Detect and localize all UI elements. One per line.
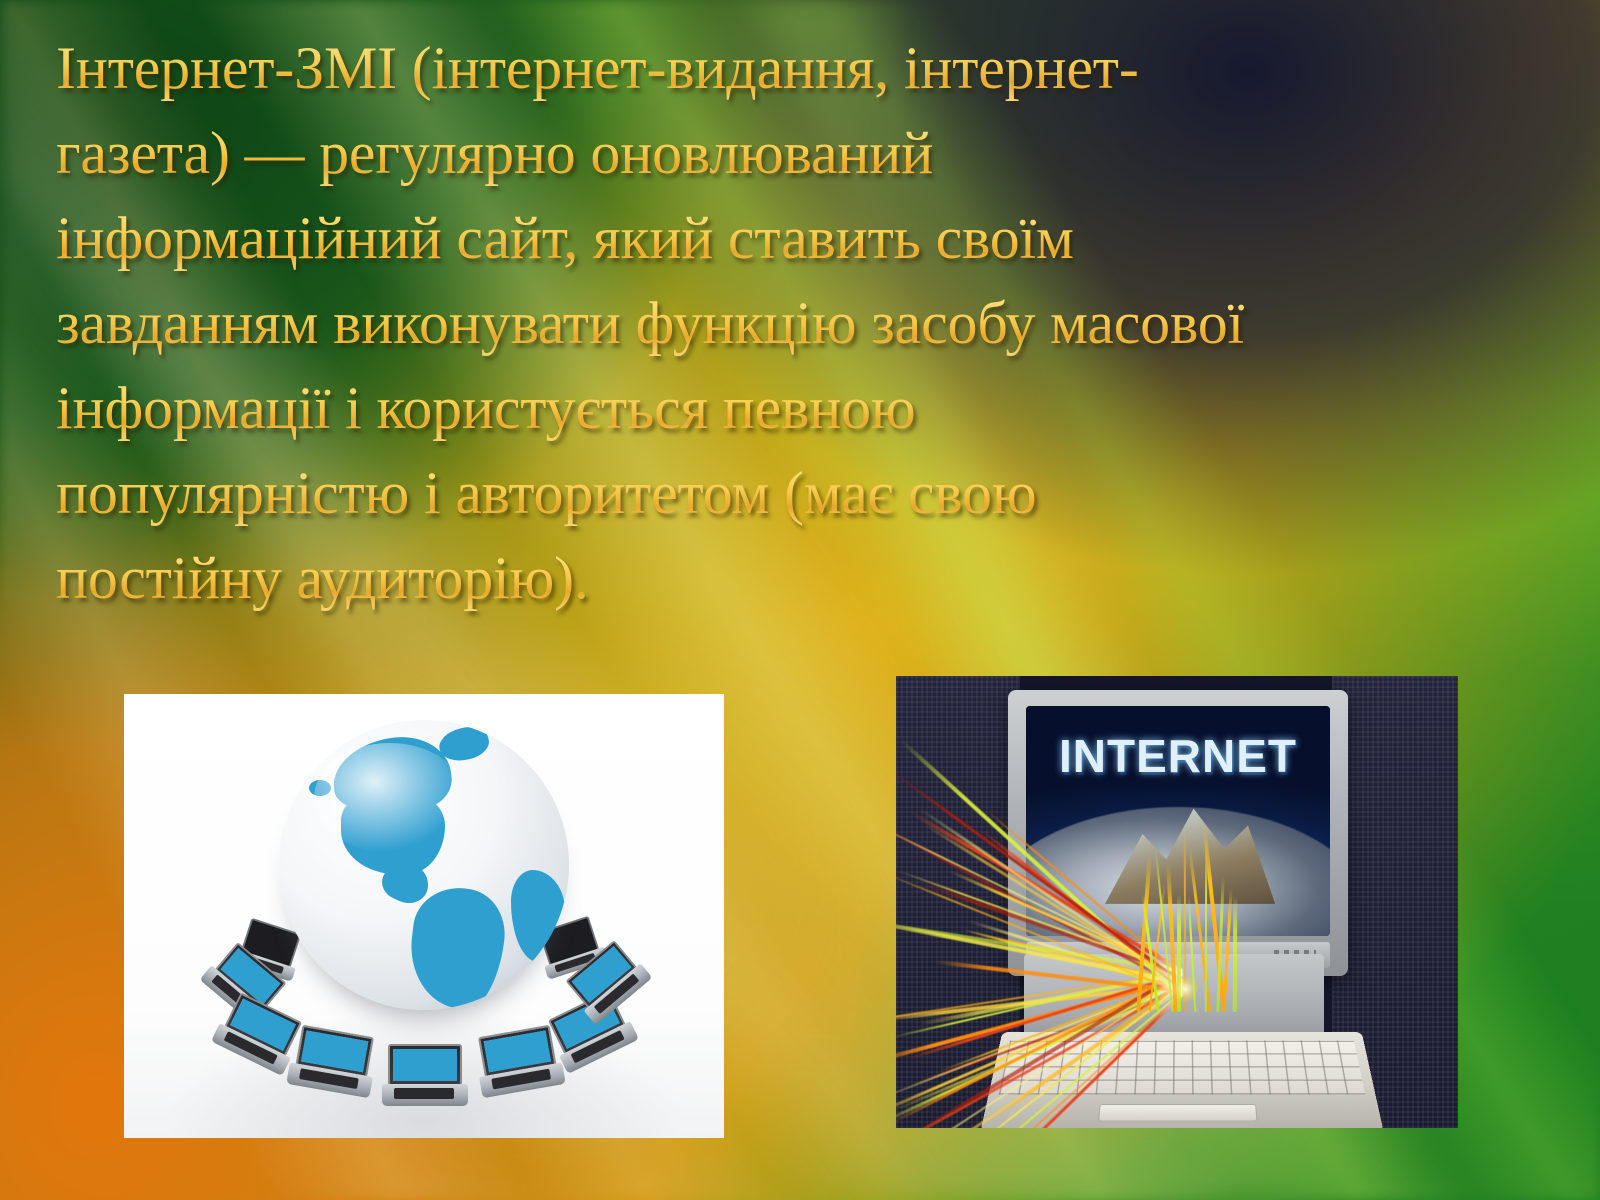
laptop-3 — [286, 1024, 380, 1098]
keyboard-spacebar — [1098, 1104, 1257, 1121]
slide-text-block: Інтернет-ЗМІ (інтернет-видання, інтернет… — [56, 26, 1516, 621]
slide-text-line-6: популярністю і авторитетом (має свою — [56, 451, 1516, 536]
slide-text-line-7: постійну аудиторію). — [56, 536, 1516, 621]
screen-internet-label: INTERNET — [1026, 729, 1330, 783]
slide-text-line-4: завданням виконувати функцію засобу масо… — [56, 281, 1516, 366]
internet-image-canvas: INTERNET — [896, 676, 1458, 1128]
slide-text-line-2: газета) — регулярно оновлюваний — [56, 111, 1516, 196]
computer-keyboard — [980, 1032, 1383, 1128]
landmass-south-america — [404, 883, 510, 1010]
internet-monitor-image: INTERNET — [896, 676, 1458, 1128]
presentation-slide: Інтернет-ЗМІ (інтернет-видання, інтернет… — [0, 0, 1600, 1200]
world-map-graphic — [393, 1049, 457, 1081]
globe-image-canvas — [124, 694, 724, 1138]
crt-monitor: INTERNET — [1008, 690, 1348, 976]
globe-highlight — [314, 743, 465, 853]
globe-icon — [279, 720, 569, 1010]
slide-text-line-5: інформації і користується певною — [56, 366, 1516, 451]
slide-text-line-3: інформаційний сайт, який ставить своїм — [56, 196, 1516, 281]
laptop-screen — [388, 1044, 462, 1086]
slide-text-line-1: Інтернет-ЗМІ (інтернет-видання, інтернет… — [56, 26, 1516, 111]
monitor-screen: INTERNET — [1026, 706, 1330, 936]
keyboard-keys — [999, 1040, 1366, 1094]
laptop-4 — [382, 1044, 468, 1106]
laptop-keyboard — [394, 1088, 454, 1099]
globe-network-image — [124, 694, 724, 1138]
fiber-optic-glow-point — [1172, 976, 1198, 1002]
